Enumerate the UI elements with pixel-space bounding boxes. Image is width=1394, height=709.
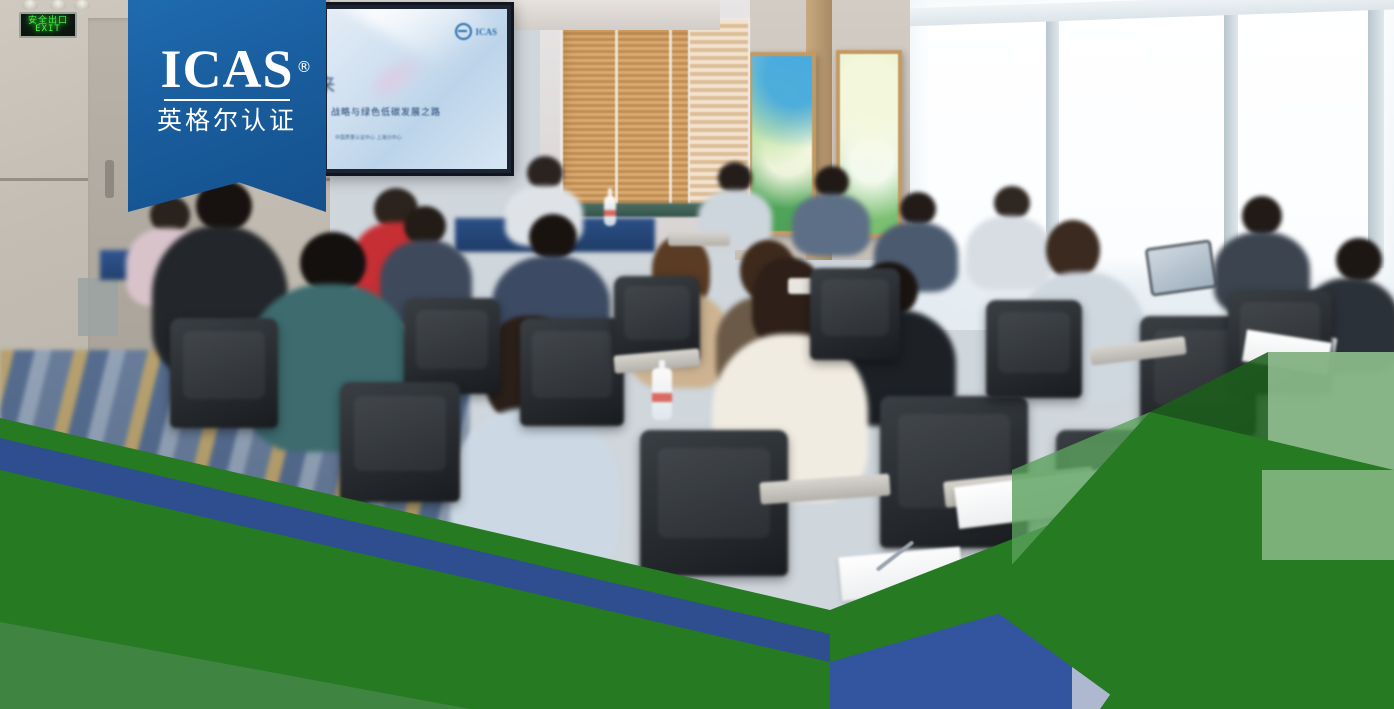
chair — [404, 298, 500, 394]
window-mullion — [1224, 0, 1238, 260]
water-bottle — [604, 196, 616, 226]
attendee-head — [1336, 238, 1382, 282]
door-handle — [105, 160, 114, 198]
ceiling-light-icon — [74, 0, 90, 10]
chair — [810, 268, 900, 360]
chair — [340, 382, 460, 502]
logo-wordmark-text: ICAS — [160, 39, 293, 99]
attendee-head — [900, 192, 936, 226]
slide-footnote: 中国质量认证中心 上海分中心 — [335, 135, 402, 141]
window-mullion — [1368, 0, 1384, 268]
icas-logo-badge[interactable]: ICAS® 英格尔认证 — [128, 0, 326, 212]
chair — [170, 318, 278, 428]
ring-icon — [455, 23, 472, 40]
ceiling-light-icon — [50, 0, 66, 10]
attendee-body — [450, 408, 618, 580]
logo-wordmark: ICAS® — [160, 42, 293, 96]
window-mullion — [1046, 8, 1059, 244]
slide-subtitle: 战略与绿色低碳发展之路 — [331, 105, 441, 118]
seminar-banner: 安全出口 EXIT ICAS 来 战略与绿色低碳发展之路 中国质量认证中心 上海… — [0, 0, 1394, 709]
water-bottle — [652, 368, 672, 420]
chair-tablet-arm — [668, 232, 730, 246]
chair — [520, 318, 624, 426]
slide-brand-label: ICAS — [475, 27, 497, 37]
attendee-head — [1242, 196, 1282, 236]
chair — [986, 300, 1082, 398]
attendee-head — [1046, 220, 1100, 280]
registered-trademark-icon: ® — [297, 40, 313, 94]
ceiling-light-icon — [22, 0, 38, 10]
slide-title: 来 — [327, 71, 337, 97]
exit-sign-line2: EXIT — [28, 25, 68, 33]
exit-sign: 安全出口 EXIT — [19, 12, 77, 38]
handout-paper — [838, 547, 963, 601]
attendee-head — [529, 214, 577, 260]
logo-divider — [164, 99, 290, 101]
attendee-body — [966, 216, 1052, 290]
window-pane — [1062, 6, 1222, 256]
attendee-head — [527, 156, 563, 190]
logo-chinese-name: 英格尔认证 — [157, 107, 297, 135]
attendee-head — [994, 186, 1030, 220]
projection-screen: ICAS 来 战略与绿色低碳发展之路 中国质量认证中心 上海分中心 — [320, 2, 514, 176]
chair — [880, 396, 1028, 548]
slide-brandmark: ICAS — [455, 23, 497, 40]
door-plate — [78, 278, 118, 336]
attendee-body — [792, 194, 870, 256]
tablet-device — [1145, 240, 1217, 297]
